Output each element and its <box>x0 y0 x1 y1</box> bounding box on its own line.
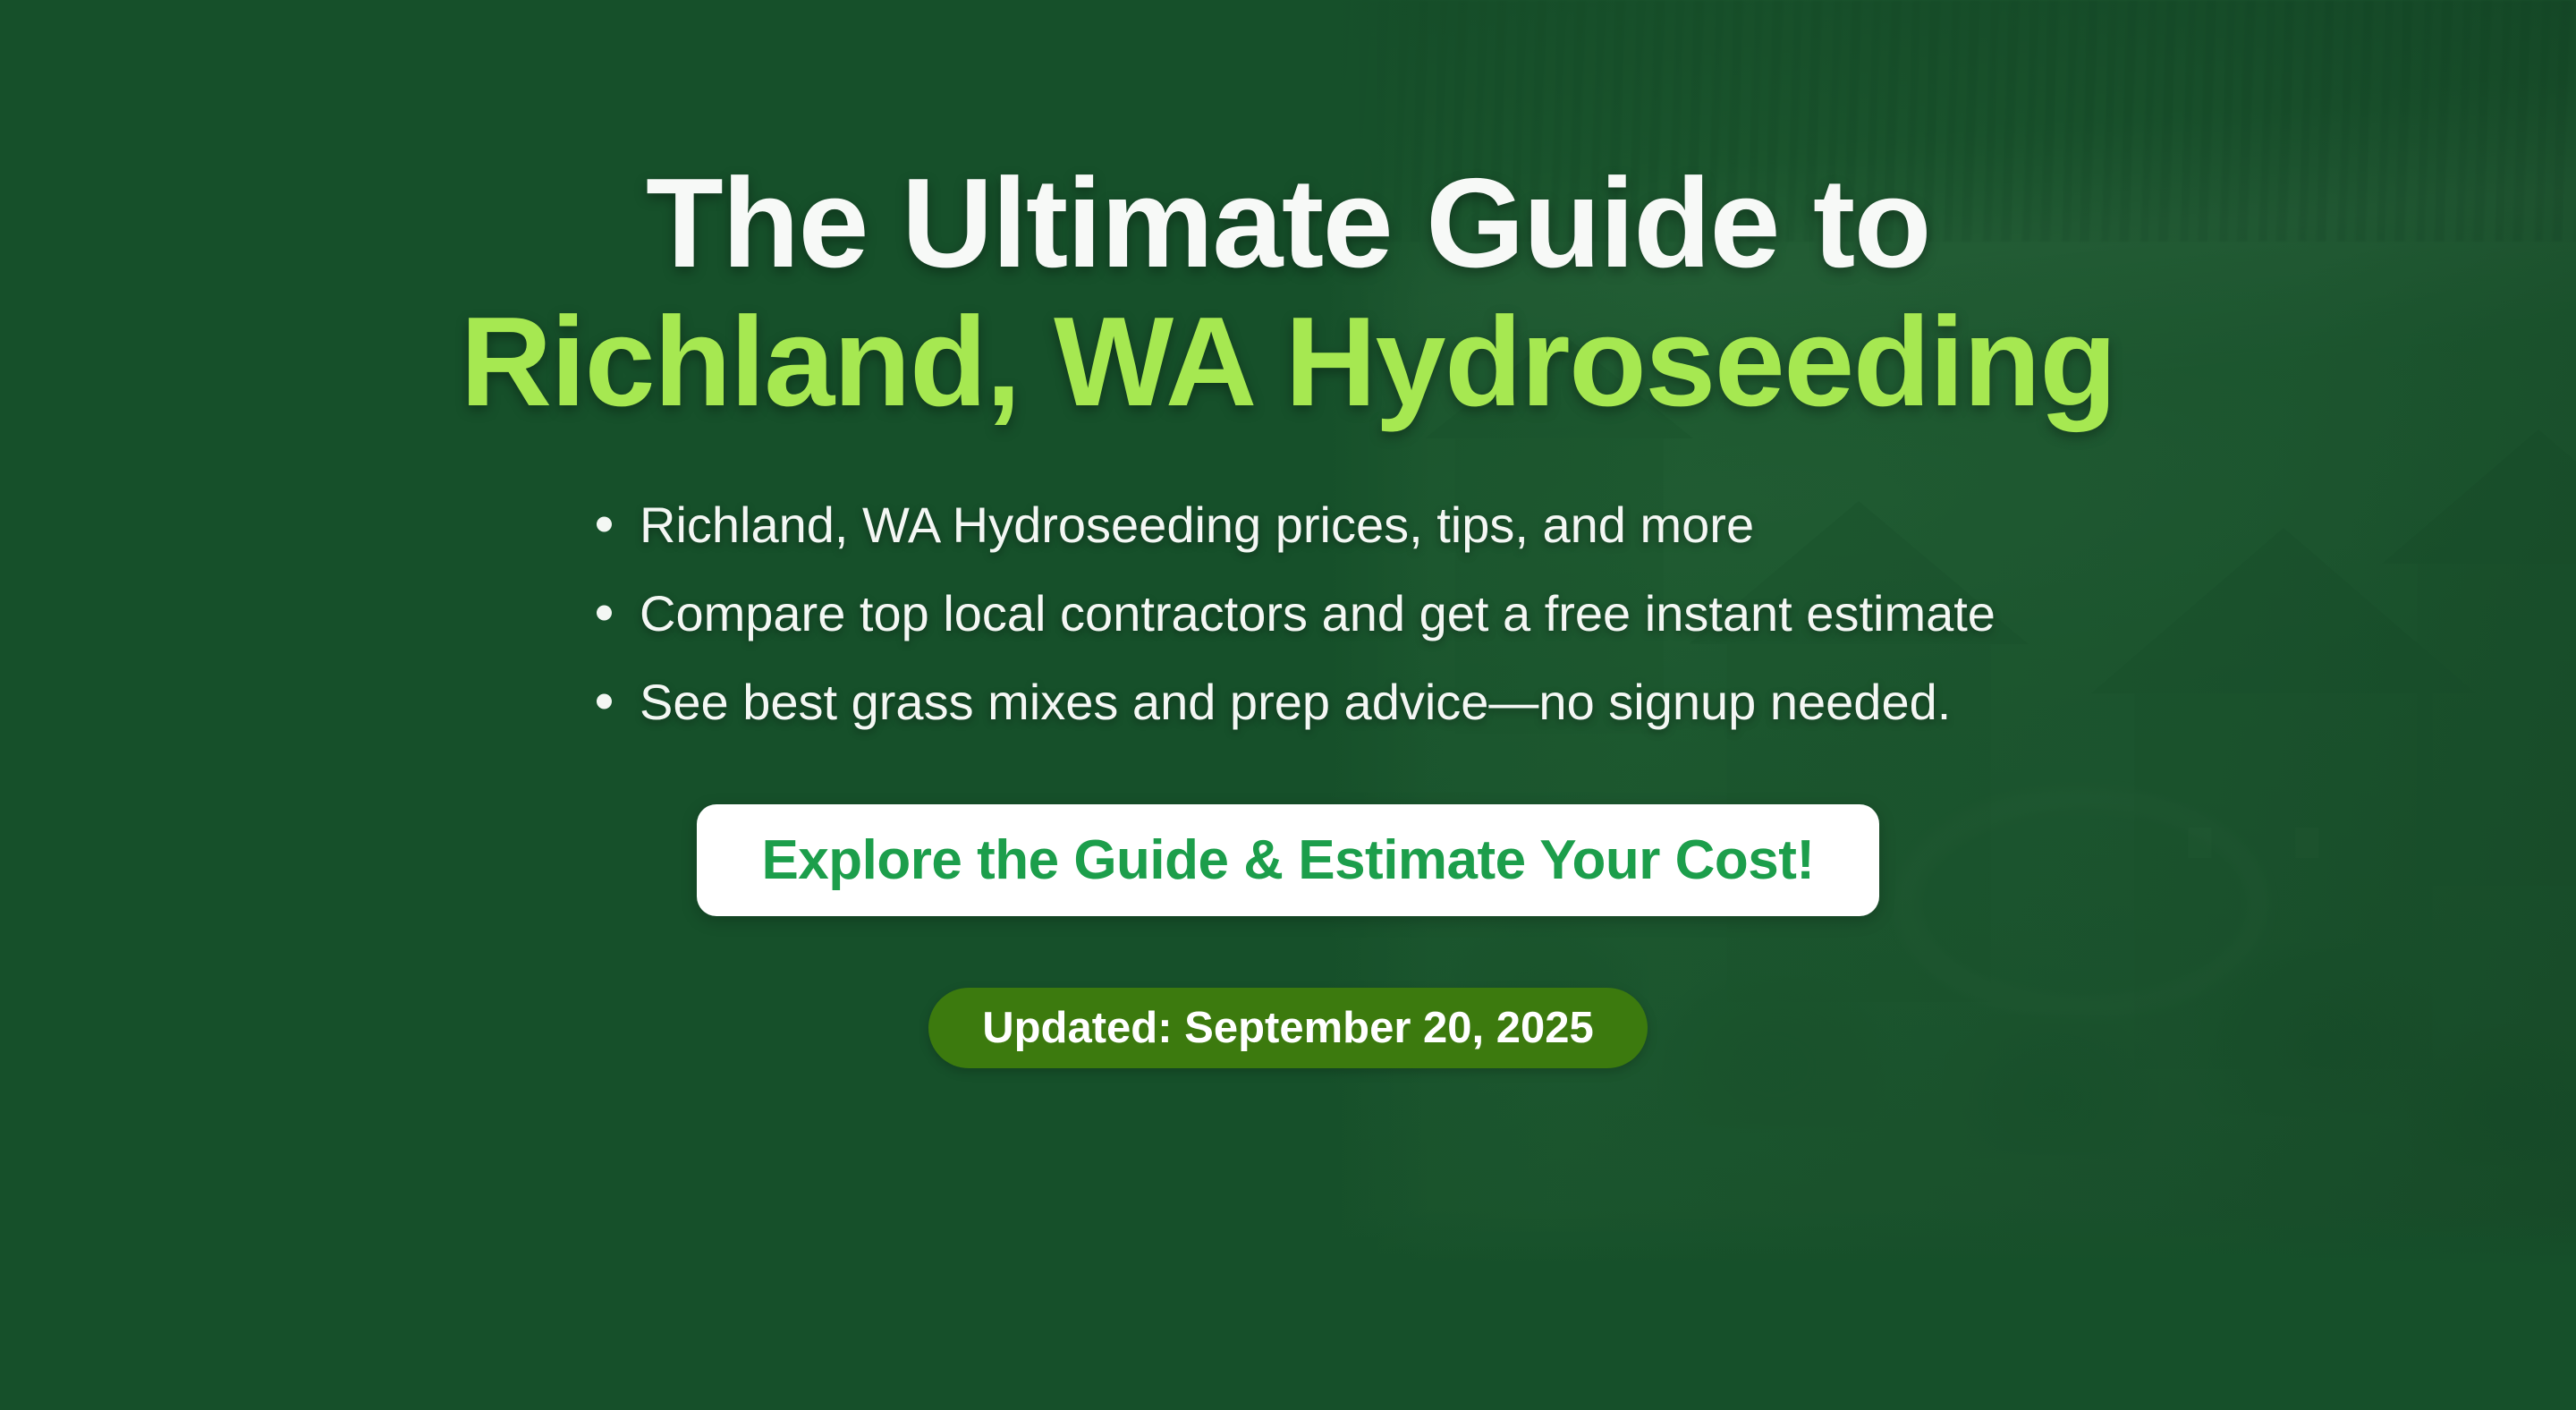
page-title: The Ultimate Guide to Richland, WA Hydro… <box>461 159 2116 428</box>
title-line-accent: Richland, WA Hydroseeding <box>461 298 2116 428</box>
title-line-primary: The Ultimate Guide to <box>461 159 2116 289</box>
list-item: Compare top local contractors and get a … <box>580 584 1996 642</box>
hero-content: The Ultimate Guide to Richland, WA Hydro… <box>0 0 2576 1410</box>
explore-guide-button[interactable]: Explore the Guide & Estimate Your Cost! <box>697 804 1878 916</box>
updated-date-badge: Updated: September 20, 2025 <box>928 988 1648 1068</box>
hero-banner: The Ultimate Guide to Richland, WA Hydro… <box>0 0 2576 1410</box>
list-item: Richland, WA Hydroseeding prices, tips, … <box>580 496 1996 554</box>
benefits-list: Richland, WA Hydroseeding prices, tips, … <box>580 496 1996 761</box>
list-item: See best grass mixes and prep advice—no … <box>580 673 1996 731</box>
